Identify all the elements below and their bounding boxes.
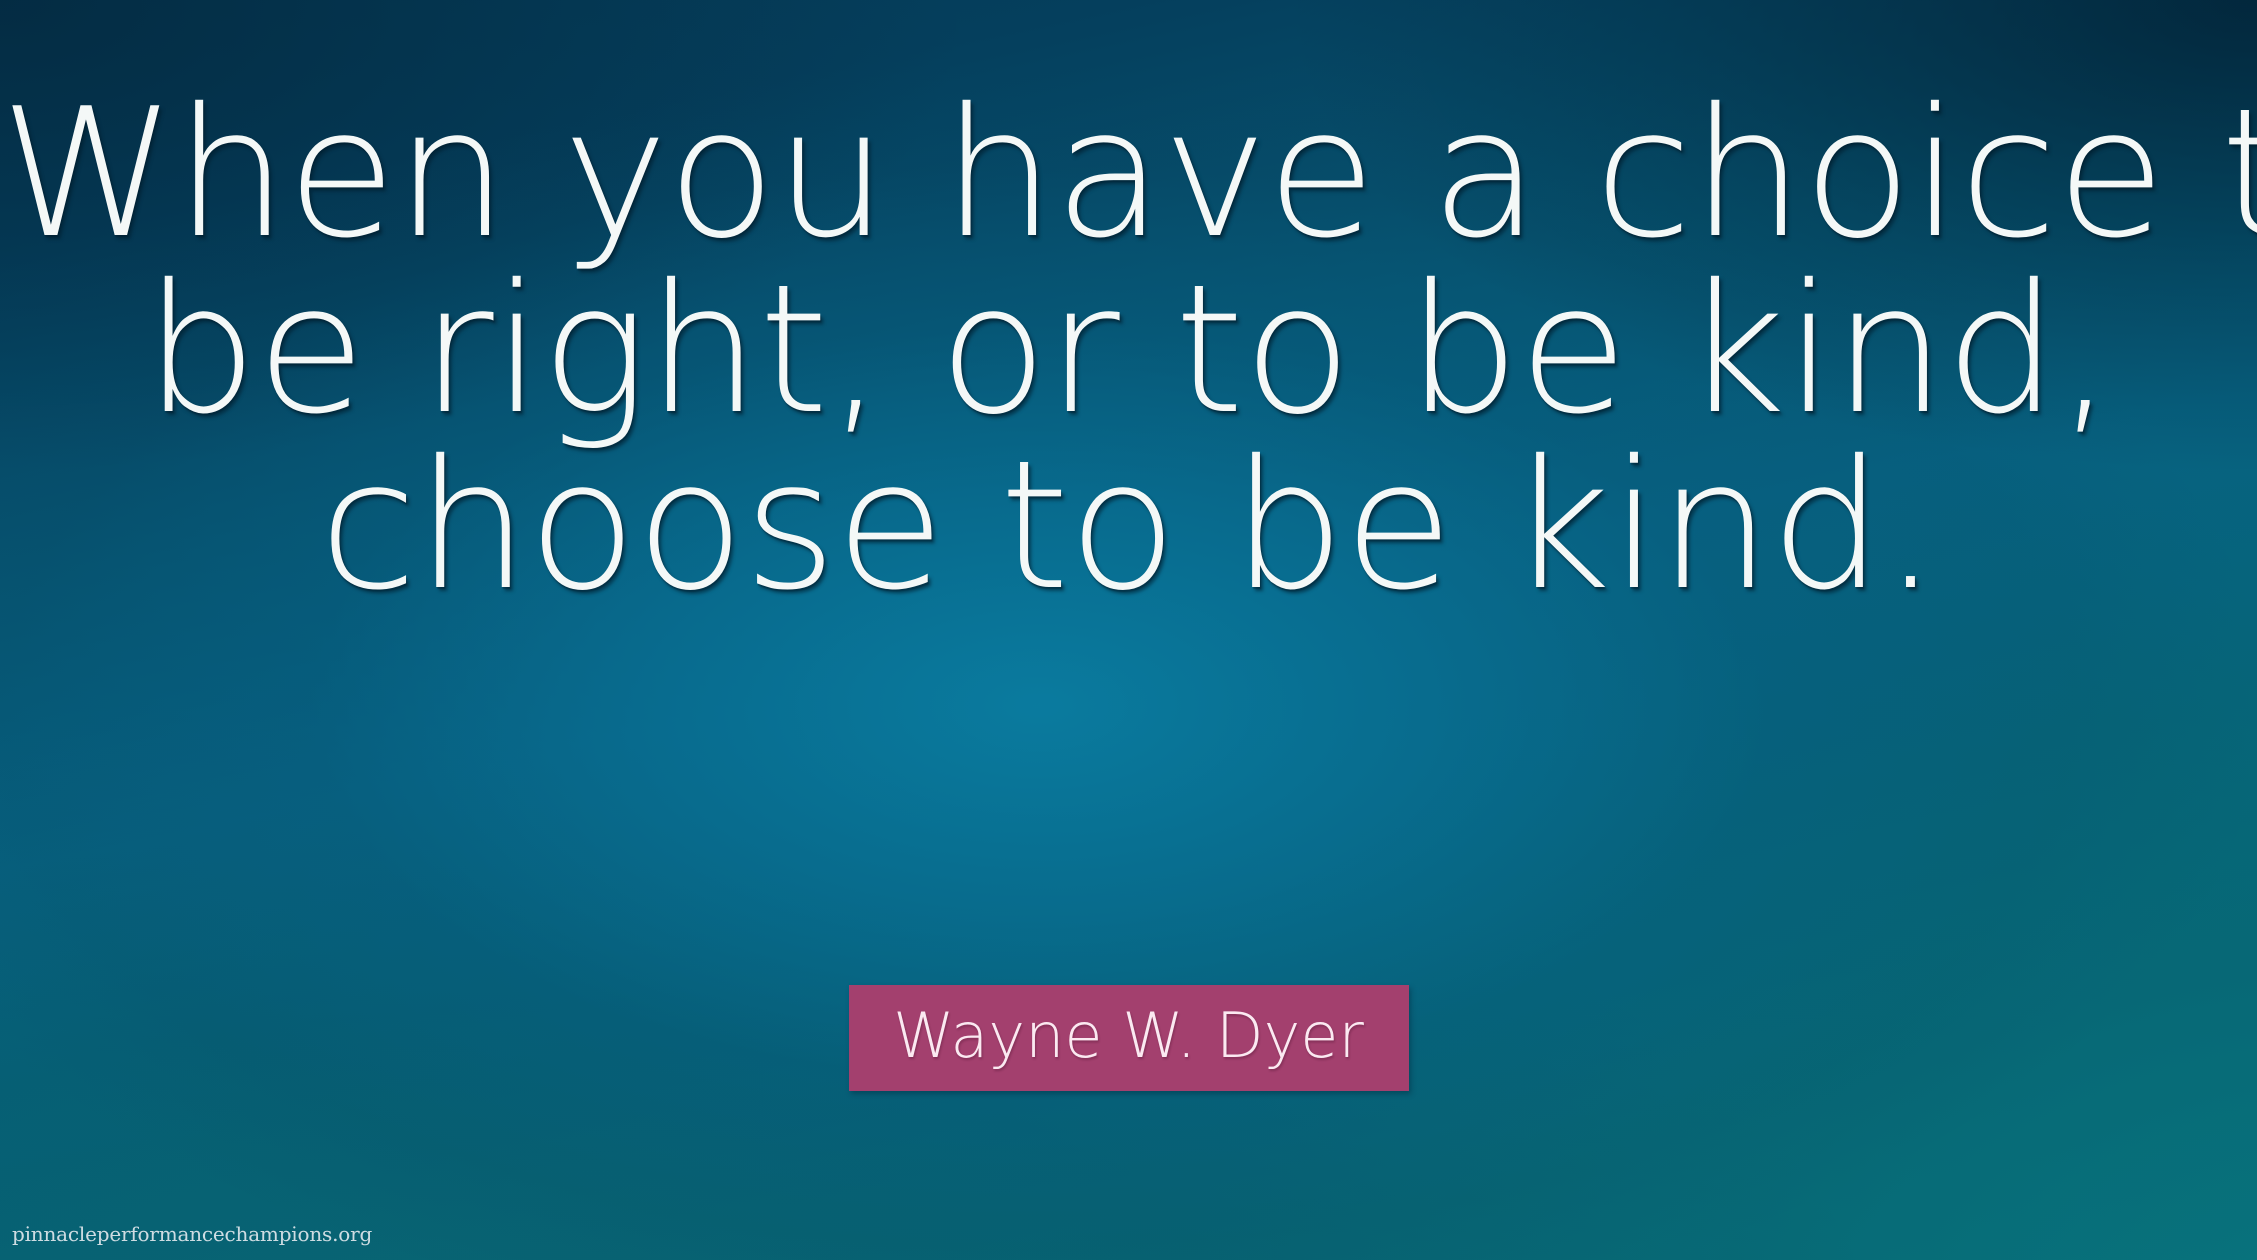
quote-line-2: be right, or to be kind,	[0, 262, 2257, 438]
author-name: Wayne W. Dyer	[893, 999, 1364, 1072]
author-badge: Wayne W. Dyer	[849, 985, 1409, 1091]
quote-line-1: When you have a choice to	[0, 86, 2257, 262]
quote-text-block: When you have a choice to be right, or t…	[0, 86, 2257, 614]
site-watermark: pinnacleperformancechampions.org	[12, 1222, 372, 1246]
quote-line-3: choose to be kind.	[0, 438, 2257, 614]
quote-poster: When you have a choice to be right, or t…	[0, 0, 2257, 1260]
author-attribution-wrap: Wayne W. Dyer	[0, 985, 2257, 1091]
